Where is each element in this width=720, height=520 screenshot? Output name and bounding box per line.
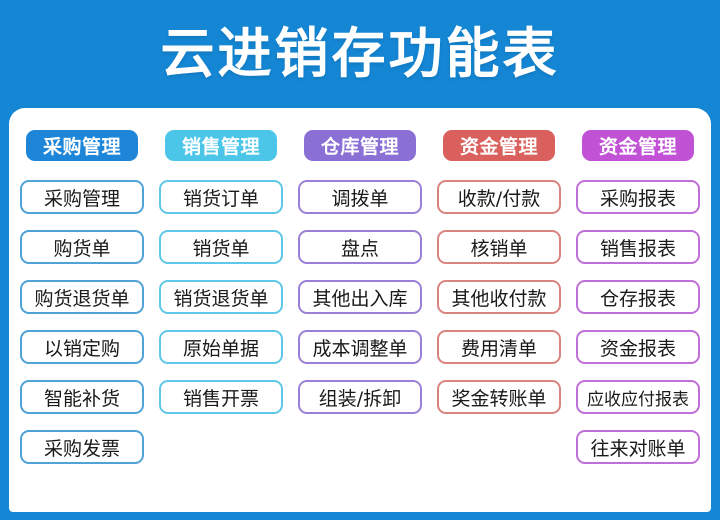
feature-item[interactable]: 智能补货 <box>20 380 144 414</box>
feature-item[interactable]: 销货退货单 <box>159 280 283 314</box>
column-header[interactable]: 采购管理 <box>26 130 138 161</box>
feature-item[interactable]: 销售开票 <box>159 380 283 414</box>
feature-item[interactable]: 销售报表 <box>576 230 700 264</box>
feature-item[interactable]: 奖金转账单 <box>437 380 561 414</box>
feature-column: 采购管理采购管理购货单购货退货单以销定购智能补货采购发票 <box>19 130 145 512</box>
feature-item[interactable]: 销货订单 <box>159 180 283 214</box>
feature-item[interactable]: 仓存报表 <box>576 280 700 314</box>
feature-item[interactable]: 购货退货单 <box>20 280 144 314</box>
title-bar: 云进销存功能表 <box>0 0 720 108</box>
feature-item[interactable]: 以销定购 <box>20 330 144 364</box>
feature-column: 资金管理收款/付款核销单其他收付款费用清单奖金转账单 <box>436 130 562 512</box>
feature-item[interactable]: 调拨单 <box>298 180 422 214</box>
column-header[interactable]: 资金管理 <box>443 130 555 161</box>
feature-item[interactable]: 采购发票 <box>20 430 144 464</box>
feature-item[interactable]: 盘点 <box>298 230 422 264</box>
feature-item[interactable]: 购货单 <box>20 230 144 264</box>
feature-item[interactable]: 组装/拆卸 <box>298 380 422 414</box>
feature-item[interactable]: 资金报表 <box>576 330 700 364</box>
feature-item[interactable]: 销货单 <box>159 230 283 264</box>
poster-root: 云进销存功能表 采购管理采购管理购货单购货退货单以销定购智能补货采购发票销售管理… <box>0 0 720 520</box>
feature-item[interactable]: 采购报表 <box>576 180 700 214</box>
columns-container: 采购管理采购管理购货单购货退货单以销定购智能补货采购发票销售管理销货订单销货单销… <box>9 108 711 512</box>
feature-item[interactable]: 其他出入库 <box>298 280 422 314</box>
page-title: 云进销存功能表 <box>161 27 560 81</box>
feature-column: 资金管理采购报表销售报表仓存报表资金报表应收应付报表往来对账单 <box>575 130 701 512</box>
feature-item[interactable]: 成本调整单 <box>298 330 422 364</box>
feature-item[interactable]: 原始单据 <box>159 330 283 364</box>
feature-item[interactable]: 应收应付报表 <box>576 380 700 414</box>
feature-column: 销售管理销货订单销货单销货退货单原始单据销售开票 <box>158 130 284 512</box>
feature-item[interactable]: 核销单 <box>437 230 561 264</box>
feature-item[interactable]: 其他收付款 <box>437 280 561 314</box>
feature-column: 仓库管理调拨单盘点其他出入库成本调整单组装/拆卸 <box>297 130 423 512</box>
column-header[interactable]: 销售管理 <box>165 130 277 161</box>
feature-item[interactable]: 收款/付款 <box>437 180 561 214</box>
column-header[interactable]: 资金管理 <box>582 130 694 161</box>
column-header[interactable]: 仓库管理 <box>304 130 416 161</box>
feature-item[interactable]: 费用清单 <box>437 330 561 364</box>
feature-item[interactable]: 采购管理 <box>20 180 144 214</box>
content-panel: 采购管理采购管理购货单购货退货单以销定购智能补货采购发票销售管理销货订单销货单销… <box>9 108 711 512</box>
feature-item[interactable]: 往来对账单 <box>576 430 700 464</box>
